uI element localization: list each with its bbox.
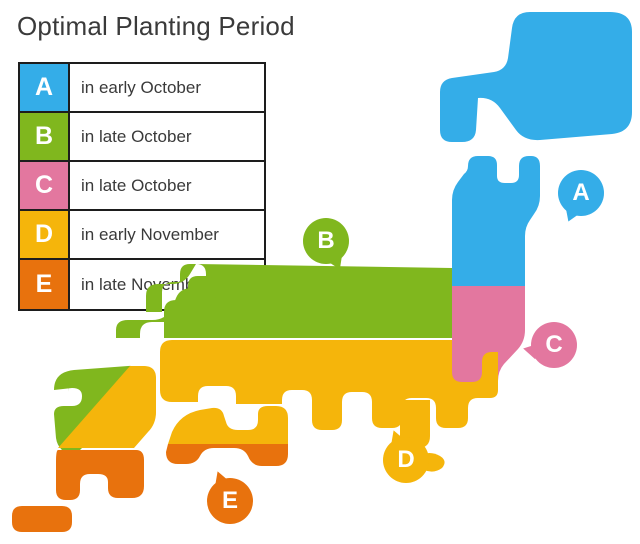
map-marker-e[interactable]: E — [207, 478, 253, 524]
legend-row-c[interactable]: C in late October — [20, 162, 264, 211]
region-okinawa[interactable] — [12, 506, 72, 532]
map-marker-d[interactable]: D — [383, 437, 429, 483]
legend-row-a[interactable]: A in early October — [20, 64, 264, 113]
legend-label-b: in late October — [70, 113, 264, 160]
legend-swatch-e: E — [20, 260, 70, 309]
marker-label-e: E — [207, 478, 253, 524]
page-title: Optimal Planting Period — [17, 9, 295, 43]
map-marker-c[interactable]: C — [531, 322, 577, 368]
legend-swatch-c: C — [20, 162, 70, 209]
region-kansai-chugoku[interactable] — [160, 340, 498, 430]
region-kyushu-north[interactable] — [60, 368, 152, 460]
region-hokkaido[interactable] — [440, 12, 632, 142]
region-shikoku-north[interactable] — [168, 406, 288, 444]
map-infographic: Optimal Planting Period A in early Octob… — [0, 0, 640, 544]
map-marker-a[interactable]: A — [558, 170, 604, 216]
region-kyushu-central[interactable] — [62, 366, 156, 448]
region-tohoku-south[interactable] — [452, 286, 525, 390]
region-kyushu-amber-wedge[interactable] — [58, 366, 156, 448]
map-marker-b[interactable]: B — [303, 218, 349, 264]
legend-table: A in early October B in late October C i… — [18, 62, 266, 311]
region-kyushu-north-shape[interactable] — [54, 366, 142, 456]
legend-swatch-a: A — [20, 64, 70, 111]
legend-swatch-d: D — [20, 211, 70, 258]
legend-label-d: in early November — [70, 211, 264, 258]
legend-label-c: in late October — [70, 162, 264, 209]
legend-row-d[interactable]: D in early November — [20, 211, 264, 260]
legend-label-a: in early October — [70, 64, 264, 111]
region-tohoku-north[interactable] — [452, 156, 540, 286]
region-kyushu-south[interactable] — [56, 450, 144, 500]
legend-row-e[interactable]: E in late November — [20, 260, 264, 309]
legend-row-b[interactable]: B in late October — [20, 113, 264, 162]
marker-label-b: B — [303, 218, 349, 264]
region-shikoku-south[interactable] — [166, 444, 288, 466]
marker-label-d: D — [383, 437, 429, 483]
marker-label-c: C — [531, 322, 577, 368]
legend-swatch-b: B — [20, 113, 70, 160]
legend-label-e: in late November — [70, 260, 264, 309]
marker-label-a: A — [558, 170, 604, 216]
